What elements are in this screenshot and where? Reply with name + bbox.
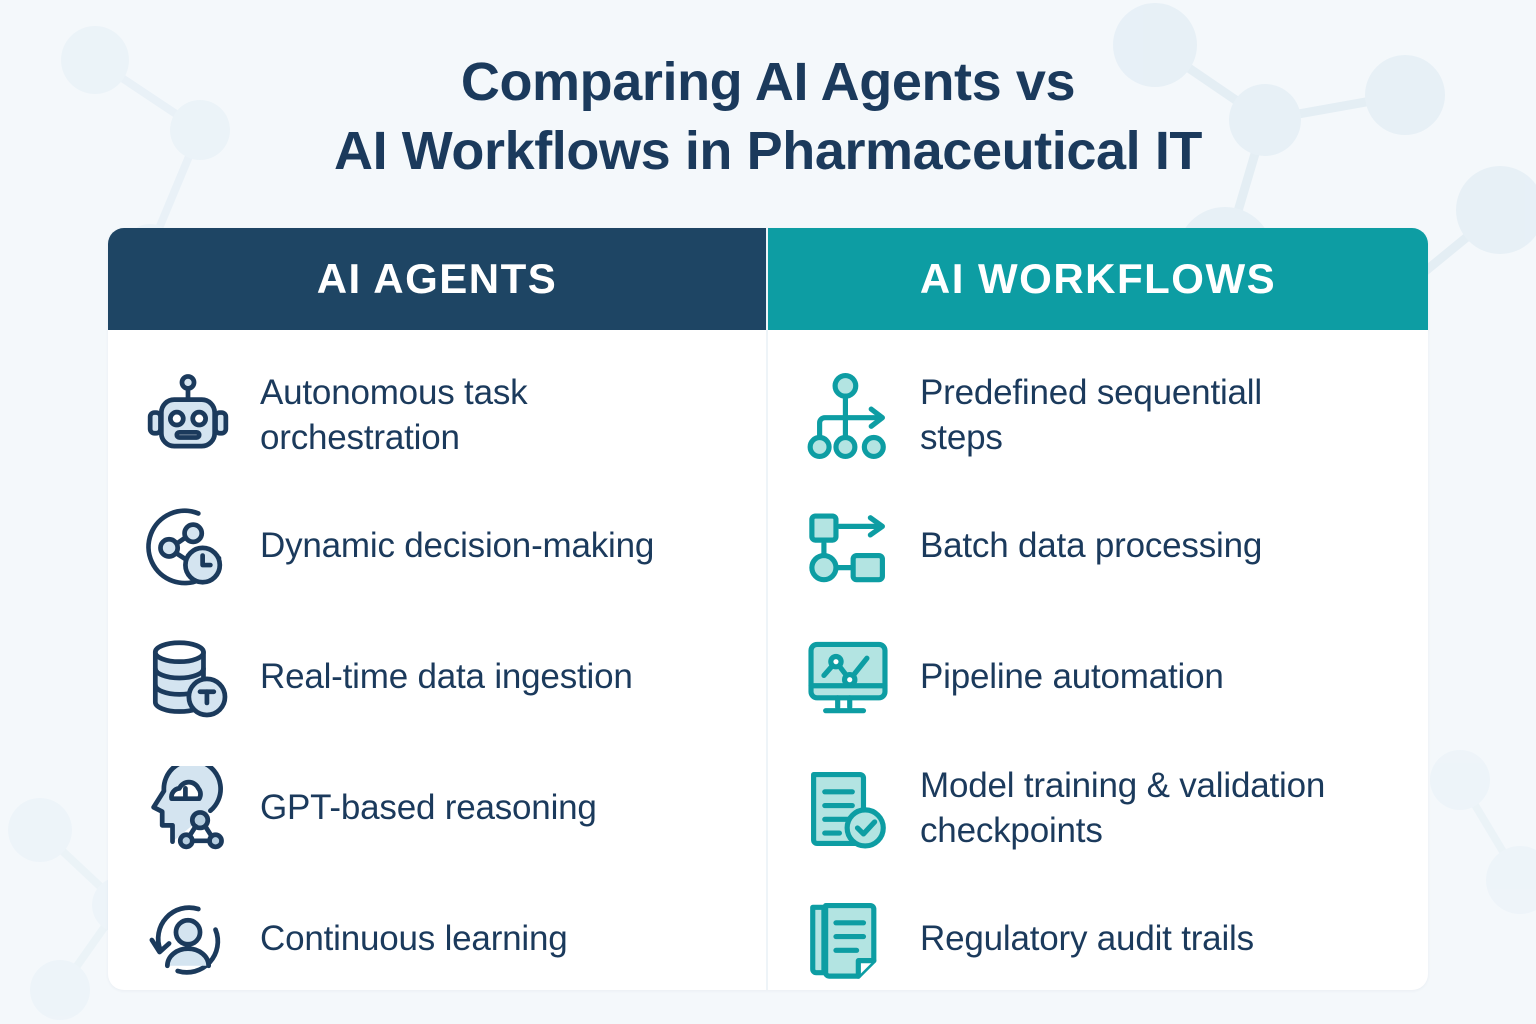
database-token-icon [142, 632, 234, 724]
list-item-label: Predefined sequentiall steps [920, 371, 1350, 459]
list-item-label: Real-time data ingestion [260, 655, 633, 699]
share-clock-icon [142, 501, 234, 593]
list-item-label: Pipeline automation [920, 655, 1224, 699]
list-item-label: Autonomous task orchestration [260, 371, 660, 459]
list-item[interactable]: Autonomous task orchestration [142, 350, 732, 481]
document-check-icon [802, 763, 894, 855]
list-item[interactable]: Continuous learning [142, 874, 732, 990]
user-refresh-icon [142, 894, 234, 986]
list-item[interactable]: Real-time data ingestion [142, 612, 732, 743]
list-item-label: Dynamic decision-making [260, 524, 654, 568]
workflow-tree-icon [802, 370, 894, 462]
list-item[interactable]: Pipeline automation [802, 612, 1394, 743]
list-item[interactable]: GPT-based reasoning [142, 743, 732, 874]
list-item[interactable]: Regulatory audit trails [802, 874, 1394, 990]
list-item-label: Regulatory audit trails [920, 917, 1254, 961]
list-item[interactable]: Predefined sequentiall steps [802, 350, 1394, 481]
column-header-label-ai-workflows: AI WORKFLOWS [920, 255, 1276, 303]
column-body-ai-workflows: Predefined sequentiall steps [768, 330, 1428, 990]
list-item-label: Continuous learning [260, 917, 568, 961]
list-item[interactable]: Batch data processing [802, 481, 1394, 612]
page-title-line-2: AI Workflows in Pharmaceutical IT [0, 117, 1536, 186]
column-header-ai-agents: AI AGENTS [108, 228, 766, 330]
list-item-label: Model training & validation checkpoints [920, 764, 1350, 852]
batch-process-icon [802, 501, 894, 593]
column-body-ai-agents: Autonomous task orchestration [108, 330, 766, 990]
head-cloud-network-icon [142, 763, 234, 855]
column-header-label-ai-agents: AI AGENTS [317, 255, 558, 303]
comparison-card: AI AGENTS [108, 228, 1428, 990]
list-item[interactable]: Dynamic decision-making [142, 481, 732, 612]
list-item-label: Batch data processing [920, 524, 1262, 568]
robot-icon [142, 370, 234, 462]
page-title: Comparing AI Agents vs AI Workflows in P… [0, 48, 1536, 186]
documents-stack-icon [802, 894, 894, 986]
list-item-label: GPT-based reasoning [260, 786, 597, 830]
list-item[interactable]: Model training & validation checkpoints [802, 743, 1394, 874]
page-title-line-1: Comparing AI Agents vs [0, 48, 1536, 117]
column-header-ai-workflows: AI WORKFLOWS [768, 228, 1428, 330]
column-ai-agents: AI AGENTS [108, 228, 768, 990]
monitor-chart-icon [802, 632, 894, 724]
column-ai-workflows: AI WORKFLOWS [768, 228, 1428, 990]
